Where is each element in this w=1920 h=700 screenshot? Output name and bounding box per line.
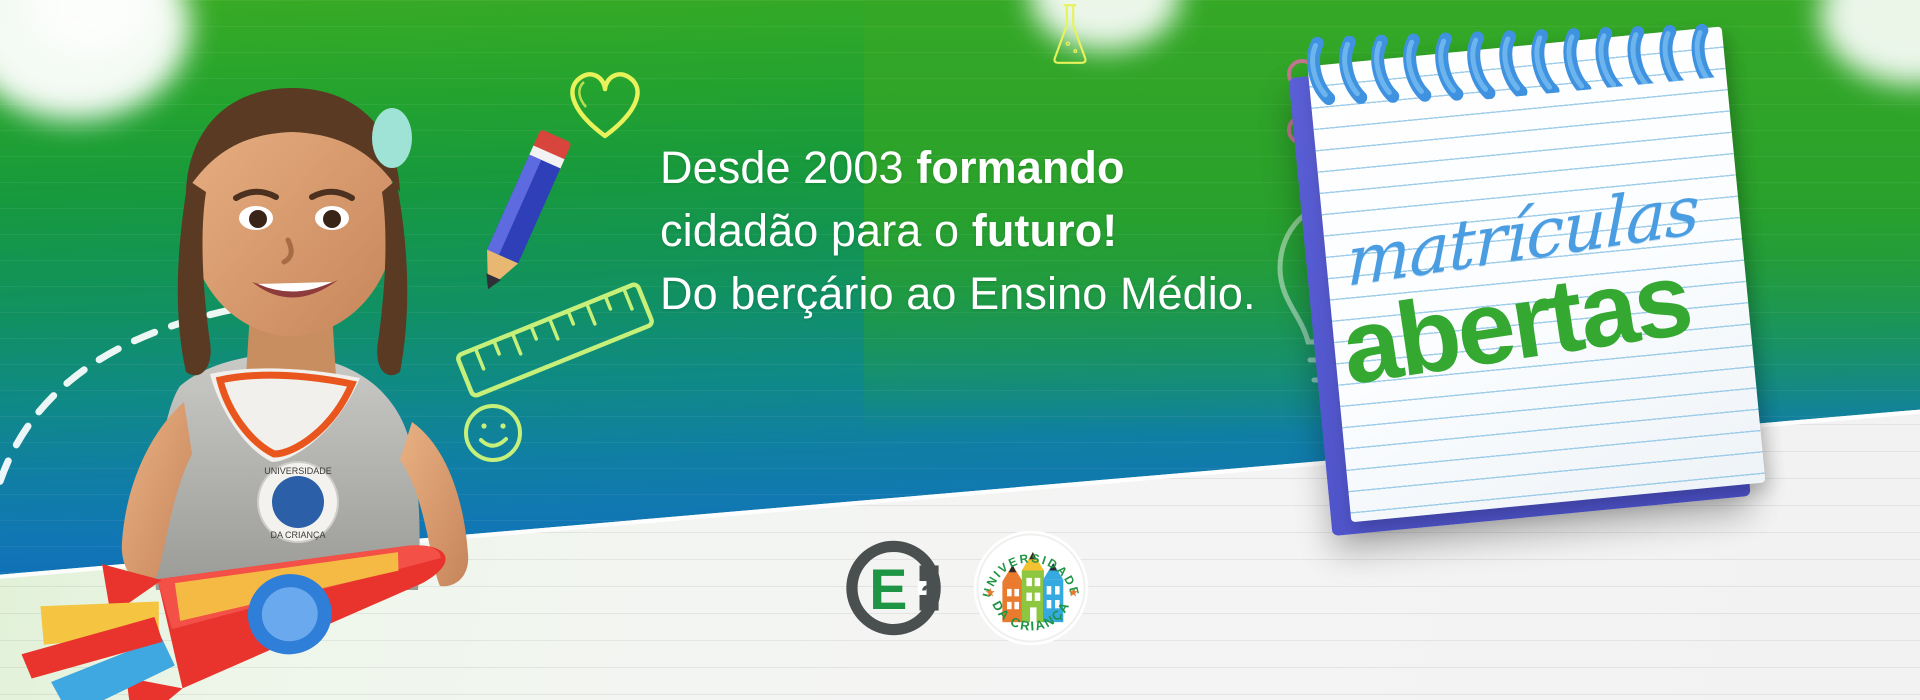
e2-logo[interactable]: E 2 <box>845 536 949 640</box>
headline-line-3: Do berçário ao Ensino Médio. <box>660 262 1256 325</box>
headline-line-1-plain: Desde 2003 <box>660 142 916 193</box>
flask-doodle <box>1022 2 1118 66</box>
enrollment-banner: UNIVERSIDADE DA CRIANÇA Desde 2003 forma… <box>0 0 1920 700</box>
headline-line-1-bold: formando <box>916 142 1124 193</box>
notepad: matrículas abertas <box>1293 20 1767 539</box>
seal-star-left: ★ <box>985 585 996 599</box>
headline-line-1: Desde 2003 formando <box>660 136 1256 199</box>
headline-line-2: cidadão para o futuro! <box>660 199 1256 262</box>
e2-logo-superscript: 2 <box>921 580 935 610</box>
shirt-crest-top: UNIVERSIDADE <box>264 466 332 476</box>
headline: Desde 2003 formando cidadão para o futur… <box>660 136 1256 325</box>
seal-star-right: ★ <box>1068 585 1079 599</box>
student-photo: UNIVERSIDADE DA CRIANÇA <box>60 30 520 590</box>
headline-line-2-bold: futuro! <box>972 205 1118 256</box>
logo-row: E 2 <box>845 528 1091 648</box>
rocket-graphic <box>0 520 510 700</box>
universidade-da-crianca-seal[interactable]: UNIVERSIDADE DA CRIANÇA ★ ★ <box>971 528 1091 648</box>
headline-line-2-plain: cidadão para o <box>660 205 972 256</box>
e2-logo-letter: E <box>869 558 907 622</box>
